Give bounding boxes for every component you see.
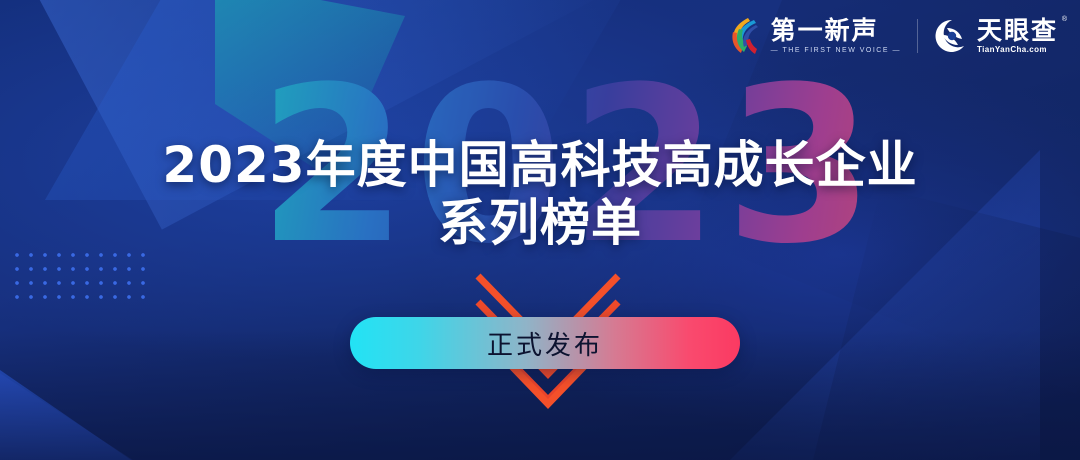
background-facet-bottom-left-2 [0,310,270,460]
logo-divider [917,19,918,53]
page-title: 2023年度中国高科技高成长企业 系列榜单 [0,136,1080,252]
logo-diyixinsheng-en: — THE FIRST NEW VOICE — [771,47,901,54]
swirl-ribbon-logo-icon [728,16,764,56]
logo-tianyancha-cn: 天眼查 [977,18,1058,44]
headline-line-2: 系列榜单 [0,194,1080,252]
logo-bar: 第一新声 — THE FIRST NEW VOICE — 天眼查 ® TianY… [728,16,1058,56]
release-status-badge[interactable]: 正式发布 [350,317,740,369]
release-status-label: 正式发布 [487,325,603,362]
logo-diyixinsheng-cn: 第一新声 [771,18,901,44]
logo-tianyancha[interactable]: 天眼查 ® TianYanCha.com [934,18,1058,54]
promo-banner: 2023 2023年度中国高科技高成长企业 系列榜单 正式发布 [0,0,1080,460]
headline-line-1: 2023年度中国高科技高成长企业 [0,136,1080,194]
dot-grid-decoration [8,246,148,306]
camera-aperture-eye-logo-icon [934,18,970,54]
logo-tianyancha-en: TianYanCha.com [977,45,1058,54]
registered-trademark-icon: ® [1062,16,1067,23]
logo-diyixinsheng[interactable]: 第一新声 — THE FIRST NEW VOICE — [728,16,901,56]
